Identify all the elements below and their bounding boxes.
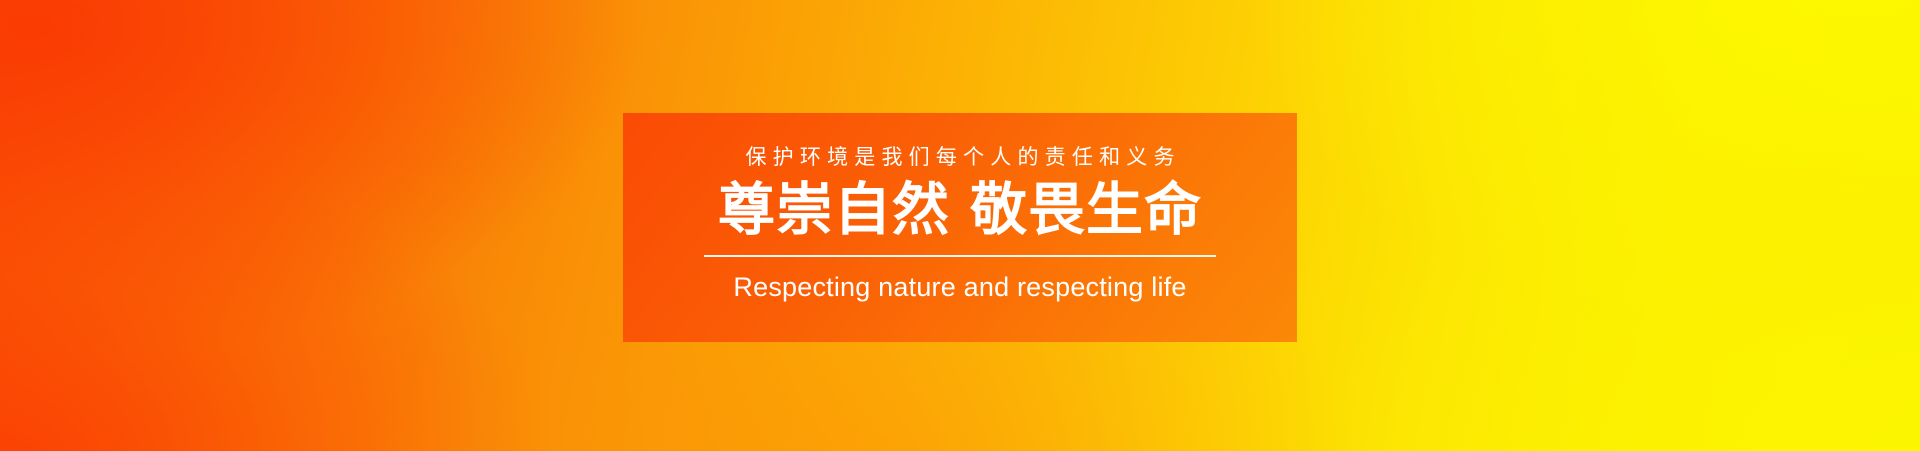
headline-part-1: 尊崇自然 bbox=[718, 178, 950, 242]
promotional-banner: 保护环境是我们每个人的责任和义务 尊崇自然敬畏生命 Respecting nat… bbox=[0, 0, 1920, 451]
divider-rule bbox=[704, 255, 1216, 257]
kicker-text: 保护环境是我们每个人的责任和义务 bbox=[739, 145, 1180, 171]
slogan-panel: 保护环境是我们每个人的责任和义务 尊崇自然敬畏生命 Respecting nat… bbox=[623, 113, 1297, 342]
headline-part-2: 敬畏生命 bbox=[970, 178, 1202, 242]
subline-text: Respecting nature and respecting life bbox=[733, 270, 1186, 304]
headline: 尊崇自然敬畏生命 bbox=[718, 177, 1202, 243]
